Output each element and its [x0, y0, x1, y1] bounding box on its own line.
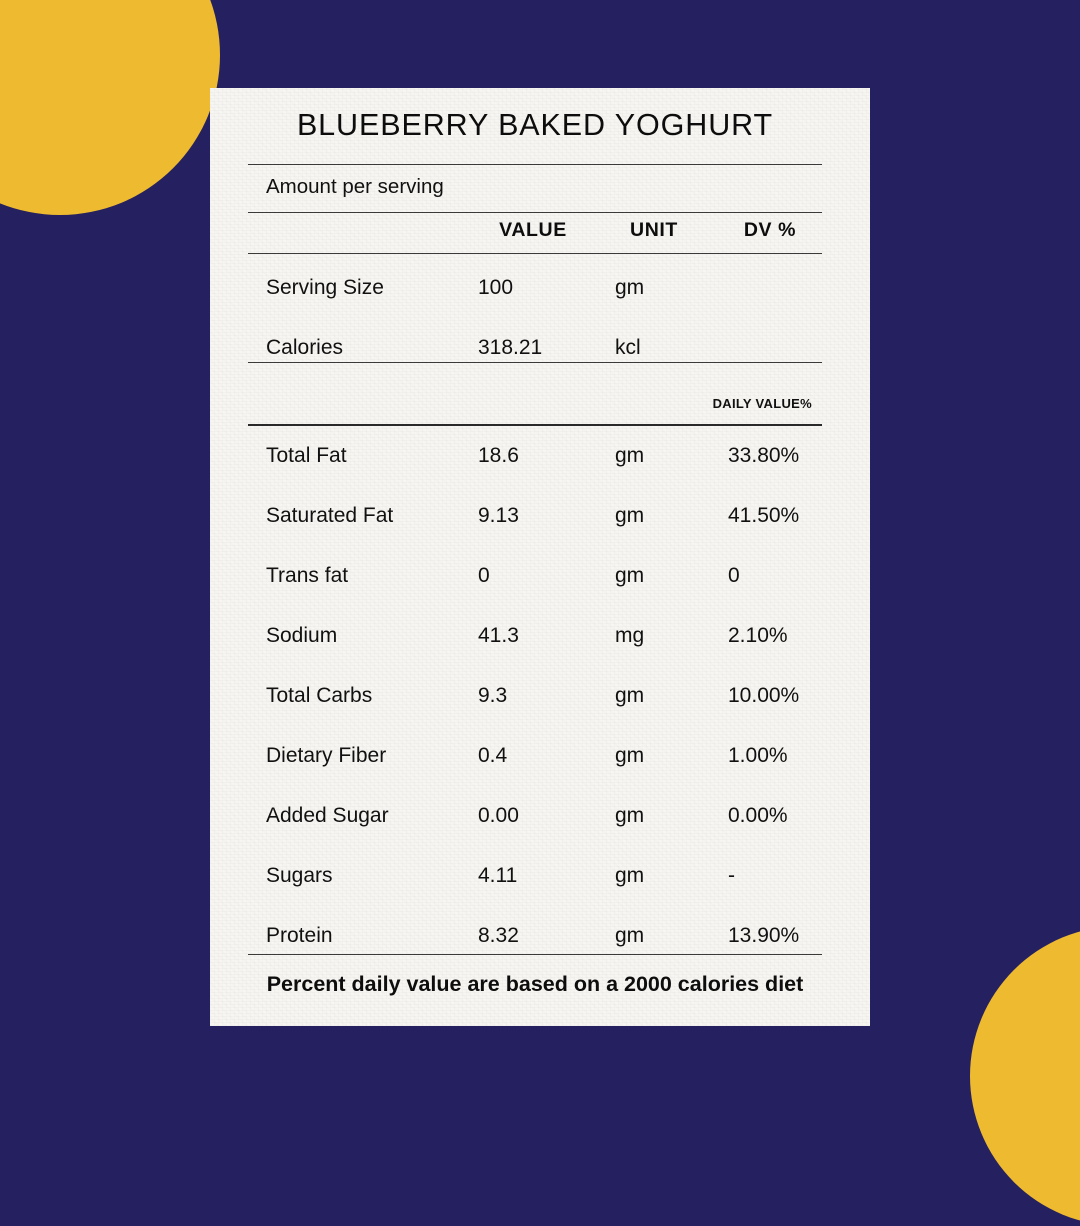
row-label: Total Fat	[266, 444, 347, 468]
row-label: Dietary Fiber	[266, 744, 386, 768]
row-label: Saturated Fat	[266, 504, 393, 528]
row-value: 318.21	[478, 336, 542, 360]
row-unit: gm	[615, 864, 644, 888]
divider-under-amount	[248, 212, 822, 213]
table-row: Added Sugar0.00gm0.00%	[248, 804, 822, 864]
divider-under-title	[248, 164, 822, 165]
row-dv: 33.80%	[728, 444, 799, 468]
row-value: 18.6	[478, 444, 519, 468]
row-value: 0	[478, 564, 490, 588]
footer-note: Percent daily value are based on a 2000 …	[248, 972, 822, 997]
decorative-circle-top-left	[0, 0, 220, 215]
row-unit: gm	[615, 924, 644, 948]
column-header-unit: UNIT	[604, 219, 704, 242]
row-label: Trans fat	[266, 564, 348, 588]
divider-under-daily-value	[248, 424, 822, 426]
row-value: 100	[478, 276, 513, 300]
row-dv: 41.50%	[728, 504, 799, 528]
daily-value-caption: DAILY VALUE%	[248, 396, 812, 411]
row-unit: gm	[615, 684, 644, 708]
row-value: 41.3	[478, 624, 519, 648]
row-value: 9.13	[478, 504, 519, 528]
divider-under-calories	[248, 362, 822, 363]
row-unit: gm	[615, 564, 644, 588]
row-dv: 2.10%	[728, 624, 788, 648]
column-header-dv: DV %	[718, 219, 822, 242]
row-unit: kcl	[615, 336, 641, 360]
row-label: Serving Size	[266, 276, 384, 300]
row-dv: 10.00%	[728, 684, 799, 708]
row-value: 0.00	[478, 804, 519, 828]
table-row: Trans fat0gm0	[248, 564, 822, 624]
row-value: 9.3	[478, 684, 507, 708]
row-label: Added Sugar	[266, 804, 389, 828]
row-label: Sugars	[266, 864, 333, 888]
row-value: 0.4	[478, 744, 507, 768]
row-label: Protein	[266, 924, 333, 948]
table-row: Dietary Fiber0.4gm1.00%	[248, 744, 822, 804]
row-unit: gm	[615, 276, 644, 300]
row-label: Sodium	[266, 624, 337, 648]
row-value: 8.32	[478, 924, 519, 948]
table-row: Saturated Fat9.13gm41.50%	[248, 504, 822, 564]
row-unit: gm	[615, 504, 644, 528]
table-row: Total Carbs9.3gm10.00%	[248, 684, 822, 744]
row-label: Total Carbs	[266, 684, 372, 708]
row-label: Calories	[266, 336, 343, 360]
row-dv: 0.00%	[728, 804, 788, 828]
row-value: 4.11	[478, 864, 517, 888]
row-unit: gm	[615, 804, 644, 828]
page-title: BLUEBERRY BAKED YOGHURT	[248, 108, 822, 143]
row-unit: gm	[615, 444, 644, 468]
divider-under-column-headers	[248, 253, 822, 254]
row-dv: -	[728, 864, 735, 888]
row-unit: mg	[615, 624, 644, 648]
row-dv: 13.90%	[728, 924, 799, 948]
row-dv: 0	[728, 564, 740, 588]
row-unit: gm	[615, 744, 644, 768]
divider-above-footer	[248, 954, 822, 955]
table-row: Total Fat18.6gm33.80%	[248, 444, 822, 504]
amount-per-serving-label: Amount per serving	[266, 175, 444, 199]
nutrition-label-card: BLUEBERRY BAKED YOGHURT Amount per servi…	[210, 88, 870, 1026]
row-dv: 1.00%	[728, 744, 788, 768]
decorative-circle-bottom-right	[970, 926, 1080, 1226]
column-header-value: VALUE	[478, 219, 588, 242]
nutrition-label-content: BLUEBERRY BAKED YOGHURT Amount per servi…	[248, 88, 822, 1026]
table-row: Serving Size 100 gm	[248, 276, 822, 306]
table-row: Sugars4.11gm-	[248, 864, 822, 924]
nutrient-table: Total Fat18.6gm33.80%Saturated Fat9.13gm…	[248, 444, 822, 984]
table-row: Sodium41.3mg2.10%	[248, 624, 822, 684]
